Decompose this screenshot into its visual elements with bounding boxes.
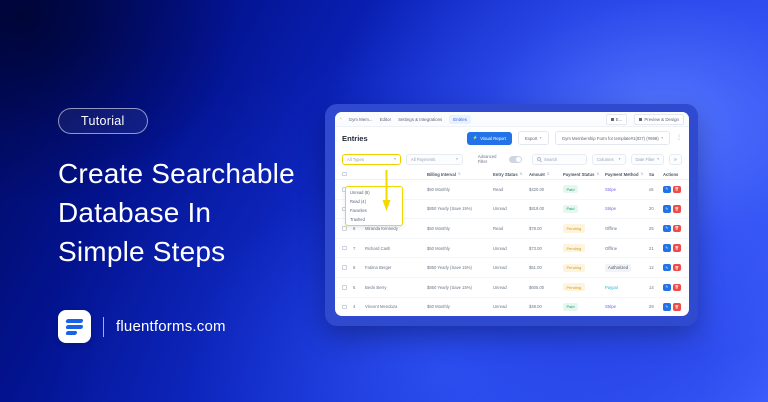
search-placeholder: Search — [544, 157, 557, 162]
headline-line-3: Simple Steps — [58, 232, 318, 271]
cell-id: 4 — [353, 304, 365, 309]
delete-icon[interactable]: 🗑 — [673, 264, 681, 272]
table-row[interactable]: 7Richard Cash$50 MonthlyUnread$73.00Pend… — [335, 239, 689, 259]
search-icon — [537, 157, 541, 161]
promo-column: Tutorial Create Searchable Database In S… — [58, 108, 318, 271]
status-badge: Pending — [563, 264, 585, 272]
cell-payment-status: Pending — [563, 264, 605, 272]
payment-method-label: Paypal — [605, 285, 618, 290]
cell-subscription: 21 — [649, 246, 663, 251]
row-checkbox-cell[interactable] — [342, 265, 353, 270]
type-select-value: All Types — [347, 157, 364, 162]
checkbox-icon[interactable] — [342, 305, 347, 310]
highlight-arrow-icon — [382, 170, 391, 212]
cell-name: Miranda Kennedy — [365, 226, 427, 231]
page-title: Create Searchable Database In Simple Ste… — [58, 154, 318, 271]
columns-label: Columns — [597, 157, 614, 162]
chevron-down-icon: ▾ — [619, 157, 621, 161]
cell-payment-status: Pending — [563, 224, 605, 232]
entries-header: Entries ⚡ Visual Report Export ▾ Gym Mem… — [335, 127, 689, 149]
status-badge: Pending — [563, 224, 585, 232]
edit-icon[interactable]: ✎ — [663, 186, 671, 194]
edit-icon[interactable]: ✎ — [663, 244, 671, 252]
cell-entry-status: Unread — [493, 246, 529, 251]
delete-icon[interactable]: 🗑 — [673, 284, 681, 292]
status-badge: Paid — [563, 185, 578, 193]
cell-payment-status: Paid — [563, 185, 605, 193]
cell-payment-method: Stripe — [605, 187, 649, 192]
cell-billing: $50 Monthly — [427, 304, 493, 309]
brand-divider — [103, 317, 104, 337]
col-entry-status[interactable]: Entry Status⇅ — [493, 172, 529, 177]
cell-subscription: 14 — [649, 285, 663, 290]
col-subscription[interactable]: Su — [649, 172, 663, 177]
cell-actions: ✎🗑 — [663, 225, 689, 233]
entry-status-dropdown[interactable]: Unread (8)Read (4)FavoritesTrashed — [345, 186, 403, 226]
cell-payment-method: Authorized — [605, 264, 649, 272]
cell-billing: $50 Monthly — [427, 187, 493, 192]
cell-id: 6 — [353, 226, 365, 231]
app-tabbar: ‹ Gym Mem... Editor Settings & Integrati… — [335, 112, 689, 127]
brand-url: fluentforms.com — [116, 318, 226, 335]
cell-subscription: 20 — [649, 206, 663, 211]
delete-icon[interactable]: 🗑 — [673, 303, 681, 311]
tab-editor[interactable]: Editor — [380, 117, 391, 122]
chevron-down-icon: ▾ — [394, 157, 396, 161]
sort-icon: ⇅ — [520, 172, 523, 176]
cell-payment-method: Stripe — [605, 304, 649, 309]
cell-entry-status: Read — [493, 226, 529, 231]
form-select[interactable]: Gym Membership Form for template#1(ID7) … — [555, 131, 670, 145]
advanced-filter-label: Advanced Filter — [478, 154, 506, 164]
visual-report-button[interactable]: ⚡ Visual Report — [467, 132, 512, 145]
grid-button-label: E... — [616, 117, 623, 122]
tab-settings-integrations[interactable]: Settings & Integrations — [398, 117, 442, 122]
checkbox-icon[interactable] — [342, 172, 347, 177]
cell-subscription: 28 — [649, 304, 663, 309]
chevron-left-icon[interactable]: ‹ — [340, 116, 342, 122]
advanced-filter-toggle[interactable] — [509, 156, 522, 163]
edit-icon[interactable]: ✎ — [663, 284, 671, 292]
edit-icon[interactable]: ✎ — [663, 205, 671, 213]
chevron-down-icon: ▾ — [657, 157, 659, 161]
cell-id: 6 — [353, 265, 365, 270]
form-select-value: Gym Membership Form for template#1(ID7) … — [562, 136, 659, 141]
delete-icon[interactable]: 🗑 — [673, 225, 681, 233]
sort-icon: ⇅ — [596, 172, 599, 176]
cell-subscription: x5 — [649, 187, 663, 192]
chevron-down-icon: ▾ — [661, 136, 663, 140]
checkbox-icon[interactable] — [342, 226, 347, 231]
cell-amount: $605.00 — [529, 285, 563, 290]
entries-title: Entries — [342, 134, 368, 143]
tab-entries[interactable]: Entries — [449, 115, 471, 124]
col-billing-interval[interactable]: Billing Interval⇅ — [427, 172, 493, 177]
checkbox-icon[interactable] — [342, 265, 347, 270]
col-actions: Actions — [663, 172, 689, 177]
payment-method-label: Stripe — [605, 304, 616, 309]
headline-line-1: Create Searchable — [58, 154, 318, 193]
sort-icon: ⇅ — [641, 172, 644, 176]
delete-icon[interactable]: 🗑 — [673, 205, 681, 213]
cell-billing: $50 Monthly — [427, 226, 493, 231]
brand-lockup: fluentforms.com — [58, 310, 226, 343]
cell-payment-status: Paid — [563, 303, 605, 311]
cell-entry-status: Read — [493, 187, 529, 192]
sort-icon: ⇅ — [458, 172, 461, 176]
refresh-icon: ⟳ — [674, 157, 678, 162]
chevron-down-icon: ▾ — [456, 157, 458, 161]
payment-method-label: Authorized — [605, 264, 631, 272]
cell-actions: ✎🗑 — [663, 244, 689, 252]
cell-subscription: 12 — [649, 265, 663, 270]
row-checkbox-cell[interactable] — [342, 285, 353, 290]
cell-amount: $819.00 — [529, 206, 563, 211]
cell-billing: $50 Monthly — [427, 246, 493, 251]
type-select[interactable]: All Types ▾ — [342, 154, 401, 165]
advanced-filter-toggle-group[interactable]: Advanced Filter — [478, 154, 522, 164]
cell-amount: $51.00 — [529, 265, 563, 270]
cell-name: Fatima Berger — [365, 265, 427, 270]
row-checkbox-cell[interactable] — [342, 246, 353, 251]
columns-button[interactable]: Columns ▾ — [592, 154, 625, 165]
date-filter-button[interactable]: Date Filter ▾ — [631, 154, 664, 165]
cell-payment-method: Stripe — [605, 206, 649, 211]
date-filter-label: Date Filter — [636, 157, 655, 162]
cell-payment-method: Offline — [605, 246, 649, 251]
table-row[interactable]: 4Vincent Mendoza$50 MonthlyUnread$48.00P… — [335, 298, 689, 316]
search-input[interactable]: Search — [532, 154, 587, 165]
checkbox-icon[interactable] — [342, 246, 347, 251]
cell-amount: $78.00 — [529, 226, 563, 231]
cell-name: Becki Berry — [365, 285, 427, 290]
payment-select[interactable]: All Payments ▾ — [406, 154, 463, 165]
cell-name: Vincent Mendoza — [365, 304, 427, 309]
payment-select-value: All Payments — [411, 157, 435, 162]
table-row[interactable]: 5Becki Berry$850 Yearly (Save 15%)Unread… — [335, 278, 689, 298]
payment-method-label: Offline — [605, 246, 617, 251]
edit-icon[interactable]: ✎ — [663, 303, 671, 311]
col-amount[interactable]: Amount⇅ — [529, 172, 563, 177]
status-badge: Pending — [563, 244, 585, 252]
cell-payment-method: Offline — [605, 226, 649, 231]
dropdown-item[interactable]: Trashed — [350, 217, 398, 222]
cell-actions: ✎🗑 — [663, 186, 689, 194]
edit-icon[interactable]: ✎ — [663, 264, 671, 272]
payment-method-label: Offline — [605, 226, 617, 231]
cell-billing: $850 Yearly (Save 15%) — [427, 206, 493, 211]
select-all-checkbox-cell[interactable] — [342, 172, 353, 177]
preview-design-label: Preview & Design — [644, 117, 679, 122]
filter-bar: All Types ▾ All Payments ▾ Advanced Filt… — [335, 149, 689, 169]
headline-line-2: Database In — [58, 193, 318, 232]
cell-actions: ✎🗑 — [663, 303, 689, 311]
cell-actions: ✎🗑 — [663, 264, 689, 272]
bolt-icon: ⚡ — [473, 135, 478, 141]
visual-report-label: Visual Report — [480, 136, 506, 141]
cell-entry-status: Unread — [493, 285, 529, 290]
cell-actions: ✎🗑 — [663, 284, 689, 292]
preview-design-button[interactable]: Preview & Design — [634, 114, 684, 125]
cell-entry-status: Unread — [493, 265, 529, 270]
cell-actions: ✎🗑 — [663, 205, 689, 213]
entries-grid-button[interactable]: E... — [606, 114, 628, 125]
payment-method-label: Stripe — [605, 206, 616, 211]
eye-icon — [639, 118, 642, 121]
cell-amount: $48.00 — [529, 304, 563, 309]
edit-icon[interactable]: ✎ — [663, 225, 671, 233]
kebab-menu-icon[interactable]: ⋮ — [676, 135, 682, 141]
table-row[interactable]: 6Fatima Berger$850 Yearly (Save 15%)Unre… — [335, 258, 689, 278]
grid-icon — [611, 118, 614, 121]
tutorial-badge: Tutorial — [58, 108, 148, 134]
form-name-label: Gym Mem... — [349, 117, 373, 122]
cell-entry-status: Unread — [493, 304, 529, 309]
cell-payment-method: Paypal — [605, 285, 649, 290]
row-checkbox-cell[interactable] — [342, 226, 353, 231]
export-button[interactable]: Export ▾ — [518, 131, 549, 145]
app-window: ‹ Gym Mem... Editor Settings & Integrati… — [335, 112, 689, 316]
chevron-down-icon: ▾ — [540, 136, 542, 140]
status-badge: Paid — [563, 303, 578, 311]
status-badge: Paid — [563, 205, 578, 213]
col-payment-status[interactable]: Payment Status⇅ — [563, 172, 605, 177]
cell-amount: $420.00 — [529, 187, 563, 192]
fluentforms-logo-icon — [58, 310, 91, 343]
cell-id: 5 — [353, 285, 365, 290]
delete-icon[interactable]: 🗑 — [673, 244, 681, 252]
cell-billing: $850 Yearly (Save 15%) — [427, 285, 493, 290]
cell-payment-status: Pending — [563, 244, 605, 252]
checkbox-icon[interactable] — [342, 285, 347, 290]
export-label: Export — [525, 136, 537, 141]
cell-entry-status: Unread — [493, 206, 529, 211]
payment-method-label: Stripe — [605, 187, 616, 192]
sort-icon: ⇅ — [547, 172, 550, 176]
cell-amount: $73.00 — [529, 246, 563, 251]
cell-billing: $850 Yearly (Save 15%) — [427, 265, 493, 270]
delete-icon[interactable]: 🗑 — [673, 186, 681, 194]
col-payment-method[interactable]: Payment Method⇅ — [605, 172, 649, 177]
cell-payment-status: Paid — [563, 205, 605, 213]
cell-subscription: 25 — [649, 226, 663, 231]
refresh-button[interactable]: ⟳ — [669, 154, 682, 165]
cell-id: 7 — [353, 246, 365, 251]
app-screenshot-frame: ‹ Gym Mem... Editor Settings & Integrati… — [325, 104, 698, 326]
cell-name: Richard Cash — [365, 246, 427, 251]
status-badge: Pending — [563, 283, 585, 291]
row-checkbox-cell[interactable] — [342, 305, 353, 310]
cell-payment-status: Pending — [563, 283, 605, 291]
